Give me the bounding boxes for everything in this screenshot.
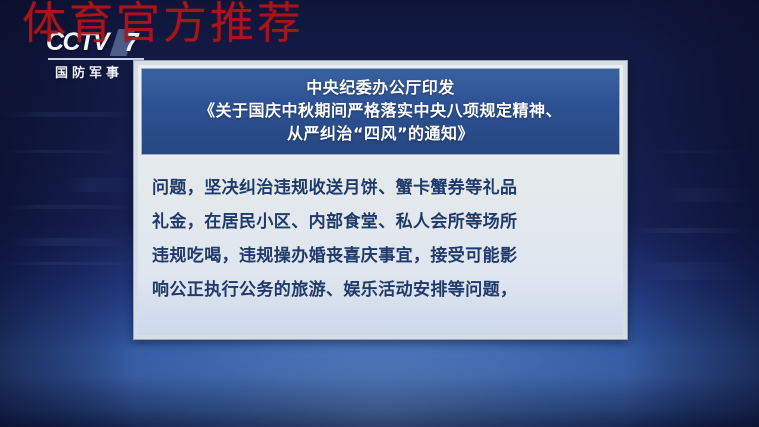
document-body-line: 响公正执行公务的旅游、娱乐活动安排等问题， — [152, 273, 611, 307]
channel-number: 7 — [124, 27, 138, 58]
document-body-line: 问题，坚决纠治违规收送月饼、蟹卡蟹券等礼品 — [152, 171, 611, 205]
document-title-line: 中央纪委办公厅印发 — [152, 76, 609, 99]
document-body-line: 违规吃喝，违规操办婚丧喜庆事宜，接受可能影 — [152, 239, 611, 273]
document-title-line: 从严纠治“四风”的通知》 — [152, 122, 609, 145]
cctv-wordmark: CCTV — [46, 28, 108, 57]
channel-logo-row: CCTV 7 — [46, 28, 146, 57]
document-title-bar: 中央纪委办公厅印发 《关于国庆中秋期间严格落实中央八项规定精神、 从严纠治“四风… — [141, 68, 620, 155]
document-card: 中央纪委办公厅印发 《关于国庆中秋期间严格落实中央八项规定精神、 从严纠治“四风… — [133, 60, 628, 340]
document-card-inner: 中央纪委办公厅印发 《关于国庆中秋期间严格落实中央八项规定精神、 从严纠治“四风… — [138, 65, 623, 335]
document-title-line: 《关于国庆中秋期间严格落实中央八项规定精神、 — [152, 99, 609, 122]
document-body: 问题，坚决纠治违规收送月饼、蟹卡蟹券等礼品 礼金，在居民小区、内部食堂、私人会所… — [138, 155, 623, 335]
channel-number-wrap: 7 — [112, 30, 146, 56]
broadcast-screen: CCTV 7 国防军事 体育官方推荐 中央纪委办公厅印发 《关于国庆中秋期间严格… — [0, 0, 759, 427]
channel-subtitle: 国防军事 — [46, 62, 146, 81]
document-body-line: 礼金，在居民小区、内部食堂、私人会所等场所 — [152, 205, 611, 239]
channel-logo: CCTV 7 国防军事 — [46, 28, 146, 81]
channel-logo-underline — [48, 58, 144, 60]
